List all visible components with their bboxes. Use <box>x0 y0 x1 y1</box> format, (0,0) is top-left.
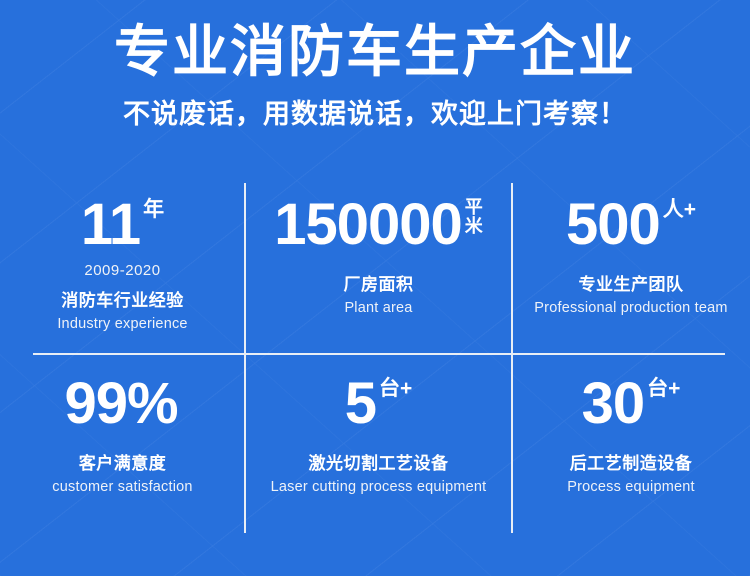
stat-unit: 平 米 <box>465 198 483 237</box>
stat-label-cn: 后工艺制造设备 <box>570 449 693 474</box>
stat-value: 99% <box>64 376 180 432</box>
page-title: 专业消防车生产企业 <box>0 18 750 86</box>
stat-label-en: Process equipment <box>567 479 695 495</box>
stat-number: 5 <box>345 376 376 432</box>
stat-unit: 年 <box>143 199 164 221</box>
stat-label-en: Industry experience <box>57 316 187 332</box>
stat-label-en: Laser cutting process equipment <box>271 479 487 495</box>
stat-number: 150000 <box>274 197 462 253</box>
stat-unit: 台+ <box>647 378 680 400</box>
stat-label-en: Plant area <box>344 300 412 316</box>
stat-label-en: customer satisfaction <box>52 479 192 495</box>
stats-grid: 11 年 2009-2020 消防车行业经验 Industry experien… <box>0 183 750 533</box>
stat-label-cn: 消防车行业经验 <box>61 286 184 311</box>
stat-unit: 人+ <box>663 199 696 221</box>
stat-number: 99% <box>64 376 177 432</box>
stat-label-en: Professional production team <box>534 300 727 316</box>
stat-value: 150000 平 米 <box>274 197 483 253</box>
stat-value: 30 台+ <box>582 376 681 432</box>
stat-label-cn: 厂房面积 <box>344 270 414 295</box>
stat-value: 5 台+ <box>345 376 413 432</box>
grid-divider-horizontal <box>33 353 725 355</box>
stat-cell-plant-area: 150000 平 米 厂房面积 Plant area <box>245 183 512 354</box>
stat-range: 2009-2020 <box>84 262 160 279</box>
stat-value: 500 人+ <box>566 197 696 253</box>
banner-header: 专业消防车生产企业 不说废话，用数据说话，欢迎上门考察！ <box>0 0 750 131</box>
company-stats-banner: 专业消防车生产企业 不说废话，用数据说话，欢迎上门考察！ 11 年 2009-2… <box>0 0 750 576</box>
stat-label-cn: 专业生产团队 <box>579 270 684 295</box>
stat-cell-process-equipment: 30 台+ 后工艺制造设备 Process equipment <box>512 354 750 533</box>
grid-divider-vertical-left <box>244 183 246 533</box>
stat-number: 11 <box>81 197 140 253</box>
stat-cell-production-team: 500 人+ 专业生产团队 Professional production te… <box>512 183 750 354</box>
stat-cell-industry-experience: 11 年 2009-2020 消防车行业经验 Industry experien… <box>0 183 245 354</box>
grid-divider-vertical-right <box>511 183 513 533</box>
stat-cell-laser-cutting-equipment: 5 台+ 激光切割工艺设备 Laser cutting process equi… <box>245 354 512 533</box>
stat-label-cn: 激光切割工艺设备 <box>309 449 449 474</box>
stat-number: 30 <box>582 376 645 432</box>
stat-number: 500 <box>566 197 660 253</box>
stat-cell-customer-satisfaction: 99% 客户满意度 customer satisfaction <box>0 354 245 533</box>
stat-value: 11 年 <box>81 197 164 253</box>
stat-label-cn: 客户满意度 <box>79 449 167 474</box>
stat-unit: 台+ <box>379 378 412 400</box>
page-subtitle: 不说废话，用数据说话，欢迎上门考察！ <box>0 98 750 130</box>
